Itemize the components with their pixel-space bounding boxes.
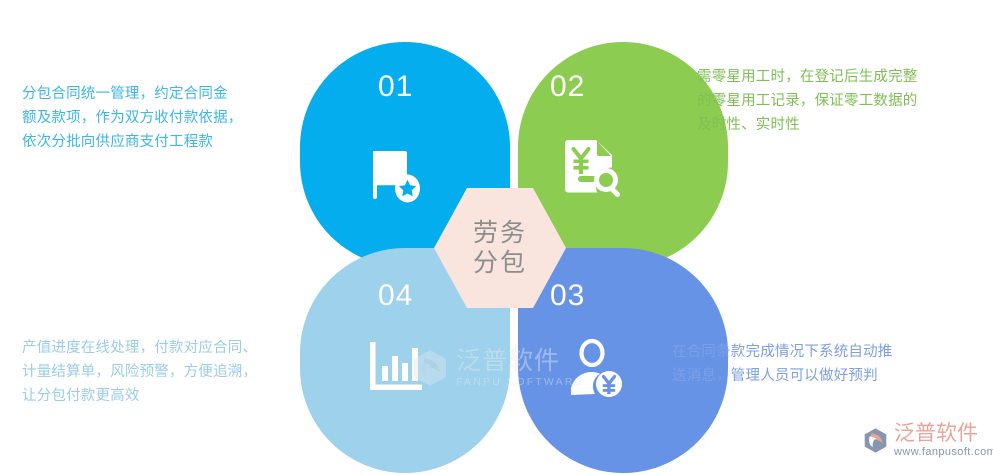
corner-watermark-text: 泛普软件 www.fanpusoft.com xyxy=(894,423,993,458)
fanpu-brand-icon xyxy=(862,427,889,454)
petal-04-number: 04 xyxy=(378,281,413,311)
infographic-canvas: 01 02 xyxy=(0,0,993,475)
petal-01-number: 01 xyxy=(378,72,413,102)
description-03: 在合同条款完成情况下系统自动推 送消息，管理人员可以做好预判 xyxy=(672,341,972,389)
center-title-line1: 劳务 xyxy=(473,218,527,249)
corner-watermark-cn: 泛普软件 xyxy=(894,423,993,444)
corner-watermark-logo: 泛普软件 www.fanpusoft.com xyxy=(862,423,993,458)
petal-02-number: 02 xyxy=(550,72,585,102)
center-title-line2: 分包 xyxy=(473,248,527,279)
description-02: 需零星用工时，在登记后生成完整 的零星用工记录，保证零工数据的 及时性、实时性 xyxy=(697,66,983,138)
bar-chart-icon xyxy=(364,336,428,400)
corner-watermark-en: www.fanpusoft.com xyxy=(894,447,993,458)
invoice-search-icon xyxy=(560,135,624,199)
description-01: 分包合同统一管理，约定合同金 额及款项，作为双方收付款依据， 依次分批向供应商支… xyxy=(22,83,297,155)
description-04: 产值进度在线处理，付款对应合同、 计量结算单，风险预警，方便追溯， 让分包付款更… xyxy=(22,337,312,409)
petal-03-number: 03 xyxy=(550,281,585,311)
contract-certificate-icon xyxy=(363,145,427,209)
worker-payment-icon xyxy=(564,338,628,402)
